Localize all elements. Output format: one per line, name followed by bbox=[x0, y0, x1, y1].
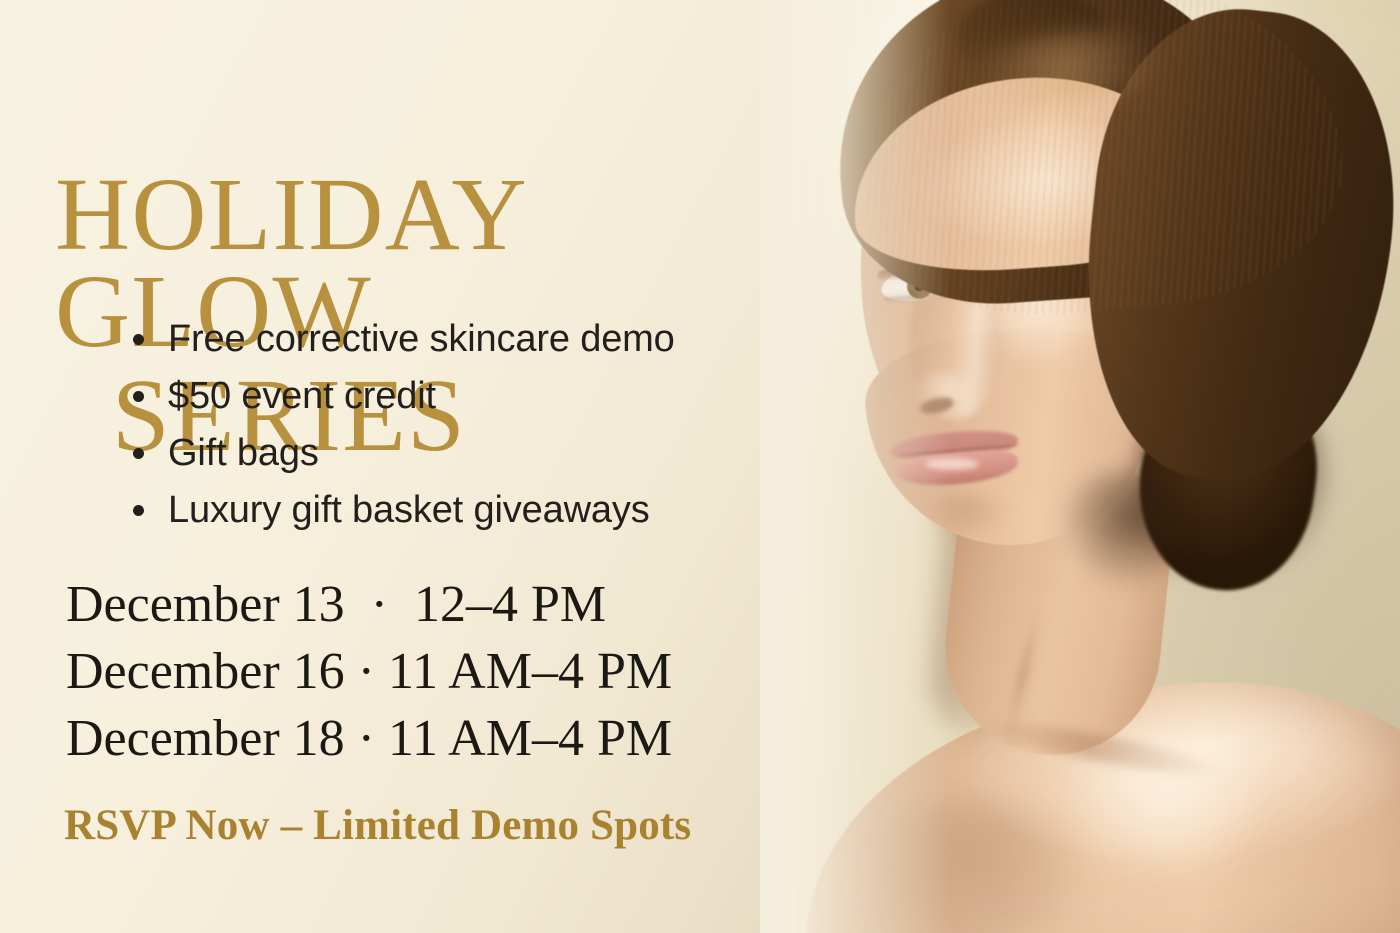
perk-label: $50 event credit bbox=[168, 375, 436, 417]
date-row: December 13 · 12–4 PM bbox=[66, 572, 826, 639]
list-item: Free corrective skincare demo bbox=[126, 320, 786, 358]
list-item: Luxury gift basket giveaways bbox=[126, 491, 786, 529]
bullet-icon bbox=[133, 505, 144, 516]
date-row: December 16 · 11 AM–4 PM bbox=[66, 639, 826, 706]
hair-nape-shadow bbox=[1060, 470, 1180, 590]
perks-list: Free corrective skincare demo $50 event … bbox=[126, 320, 786, 548]
date-row: December 18 · 11 AM–4 PM bbox=[66, 706, 826, 773]
rsvp-cta[interactable]: RSVP Now – Limited Demo Spots bbox=[64, 804, 691, 847]
perk-label: Free corrective skincare demo bbox=[168, 318, 675, 360]
bullet-icon bbox=[133, 391, 144, 402]
promotional-poster: HOLIDAY GLOW SERIES Free corrective skin… bbox=[0, 0, 1400, 933]
perk-label: Luxury gift basket giveaways bbox=[168, 489, 650, 531]
bullet-icon bbox=[133, 448, 144, 459]
list-item: Gift bags bbox=[126, 434, 786, 472]
perk-label: Gift bags bbox=[168, 432, 319, 474]
bullet-icon bbox=[133, 334, 144, 345]
event-dates: December 13 · 12–4 PM December 16 · 11 A… bbox=[66, 572, 826, 772]
text-panel: HOLIDAY GLOW SERIES Free corrective skin… bbox=[0, 0, 860, 933]
list-item: $50 event credit bbox=[126, 377, 786, 415]
